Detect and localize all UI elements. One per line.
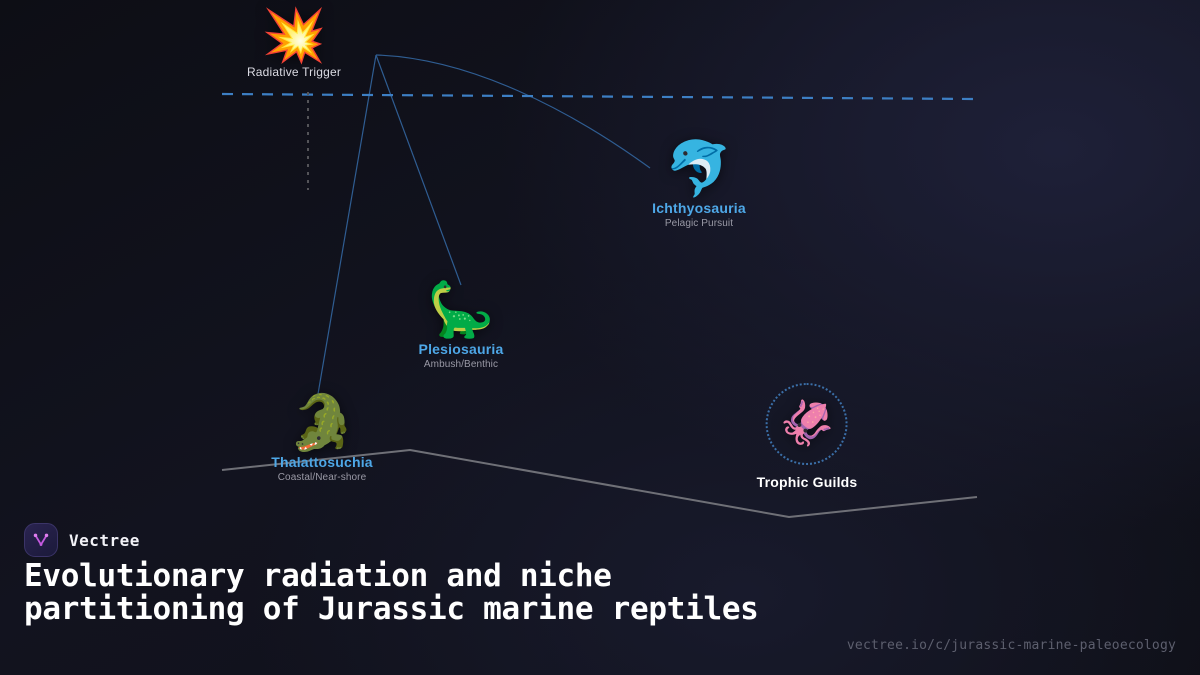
edge-trigger-to-ichthyosauria <box>376 55 650 168</box>
node-subtitle: Ambush/Benthic <box>424 359 498 370</box>
sauropod-icon: 🦕 <box>427 283 494 337</box>
brand[interactable]: Vectree <box>24 523 140 557</box>
site-url: vectree.io/c/jurassic-marine-paleoecolog… <box>847 638 1176 653</box>
vectree-v-logo-icon <box>24 523 58 557</box>
edge-trigger-to-plesiosauria <box>376 55 461 285</box>
node-radiative-trigger[interactable]: 💥 Radiative Trigger <box>247 10 341 79</box>
node-subtitle: Pelagic Pursuit <box>665 218 733 229</box>
squid-icon: 🦑 <box>780 402 835 446</box>
node-trophic-guilds[interactable]: 🦑 Trophic Guilds <box>757 383 858 490</box>
node-title: Radiative Trigger <box>247 65 341 79</box>
node-title: Ichthyosauria <box>652 200 746 216</box>
node-thalattosuchia[interactable]: 🐊 Thalattosuchia Coastal/Near-shore <box>271 396 373 483</box>
page-title: Evolutionary radiation and niche partiti… <box>24 560 784 625</box>
explosion-icon: 💥 <box>262 10 327 62</box>
node-title: Plesiosauria <box>419 341 504 357</box>
infographic-canvas: 💥 Radiative Trigger 🐬 Ichthyosauria Pela… <box>0 0 1200 675</box>
node-plesiosauria[interactable]: 🦕 Plesiosauria Ambush/Benthic <box>419 283 504 370</box>
guild-ring: 🦑 <box>766 383 848 465</box>
brand-name: Vectree <box>69 531 140 550</box>
node-subtitle: Coastal/Near-shore <box>278 472 367 483</box>
edge-trigger-to-thalattosuchia <box>318 55 376 394</box>
sea-level-dashed-line <box>222 94 975 99</box>
dolphin-icon: 🐬 <box>665 142 732 196</box>
crocodile-icon: 🐊 <box>288 396 355 450</box>
node-title: Thalattosuchia <box>271 454 373 470</box>
node-ichthyosauria[interactable]: 🐬 Ichthyosauria Pelagic Pursuit <box>652 142 746 229</box>
footer: Vectree Evolutionary radiation and niche… <box>0 510 1200 675</box>
node-title: Trophic Guilds <box>757 474 858 490</box>
